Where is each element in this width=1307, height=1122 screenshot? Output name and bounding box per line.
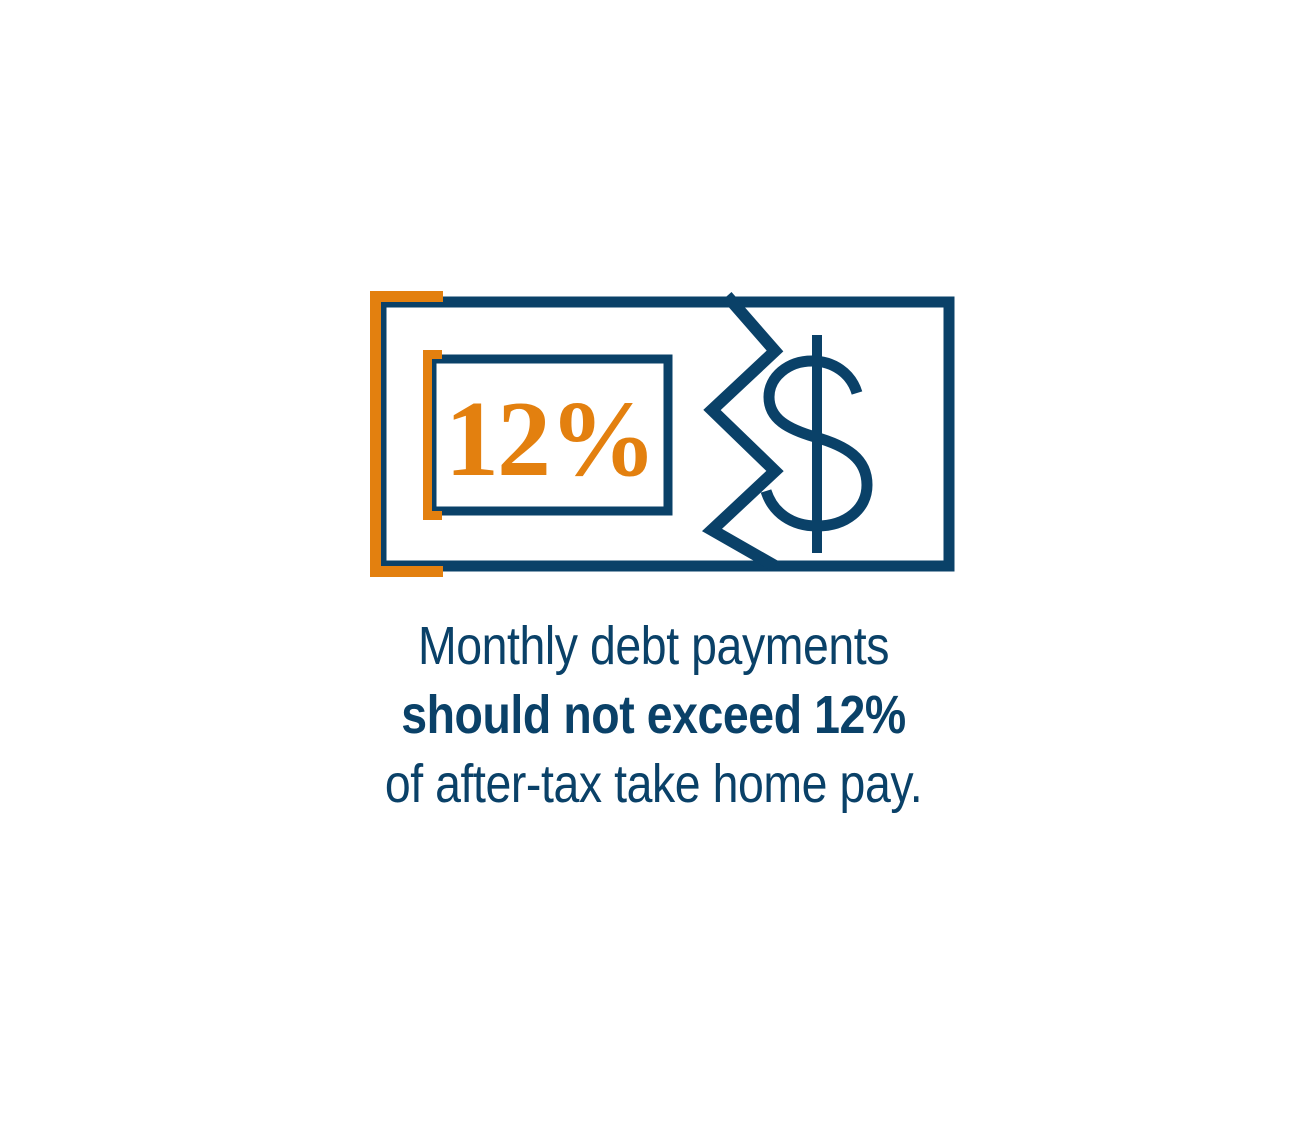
badge-percentage-label: 12% [445, 380, 655, 499]
infographic-card: 12% Monthly debt payments should not exc… [0, 0, 1307, 1122]
banknote-icon: 12% [360, 285, 960, 577]
caption-block: Monthly debt payments should not exceed … [91, 612, 1215, 819]
dollar-sign-icon [766, 335, 867, 553]
zigzag-divider-icon [712, 296, 775, 566]
caption-line-1: Monthly debt payments [91, 612, 1215, 681]
caption-line-3: of after-tax take home pay. [91, 750, 1215, 819]
caption-line-2: should not exceed 12% [91, 681, 1215, 750]
